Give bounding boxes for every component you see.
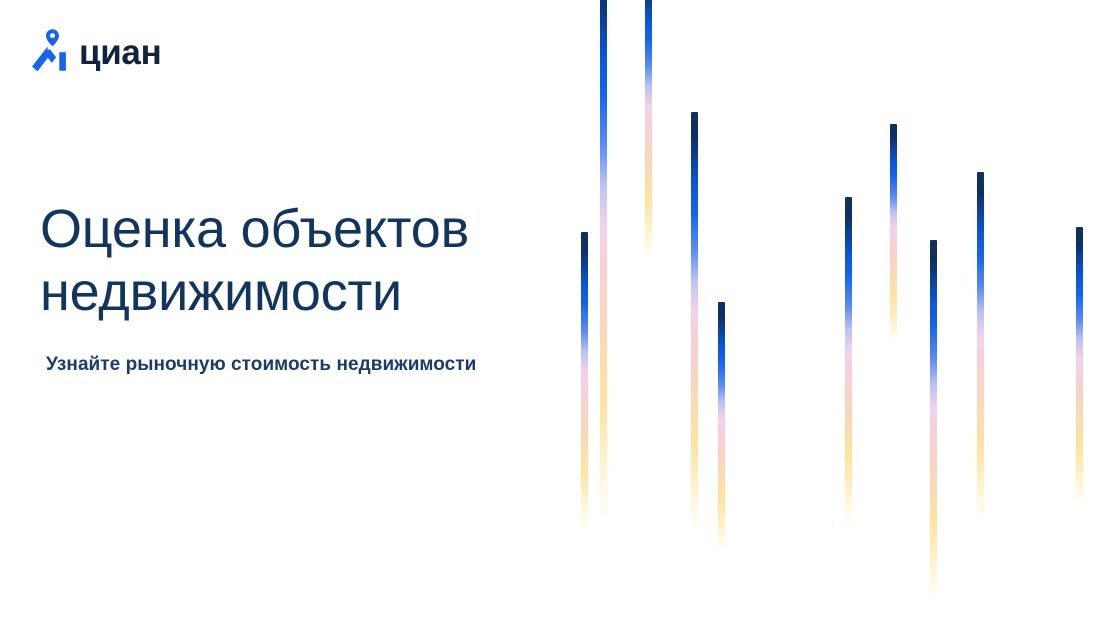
cian-pin-roof-icon <box>30 28 70 72</box>
cian-logo[interactable]: циан <box>30 28 161 72</box>
gradient-bar-3 <box>645 0 652 260</box>
gradient-bar-10 <box>1076 227 1083 507</box>
gradient-bar-2 <box>600 0 607 520</box>
cian-wordmark: циан <box>79 35 161 70</box>
page-title: Оценка объектов недвижимости <box>40 198 600 323</box>
gradient-bar-4 <box>691 112 698 532</box>
gradient-bar-7 <box>890 124 897 344</box>
gradient-bar-6 <box>845 197 852 527</box>
page-title-line-1: Оценка объектов <box>40 199 469 259</box>
hero-content: Оценка объектов недвижимости Узнайте рын… <box>40 198 600 378</box>
gradient-bar-9 <box>977 172 984 522</box>
gradient-bar-5 <box>718 302 725 552</box>
gradient-bar-8 <box>930 240 937 600</box>
page-title-line-2: недвижимости <box>40 262 402 322</box>
page-subtitle: Узнайте рыночную стоимость недвижимости <box>46 353 600 378</box>
slide-root: циан Оценка объектов недвижимости Узнайт… <box>0 0 1116 626</box>
